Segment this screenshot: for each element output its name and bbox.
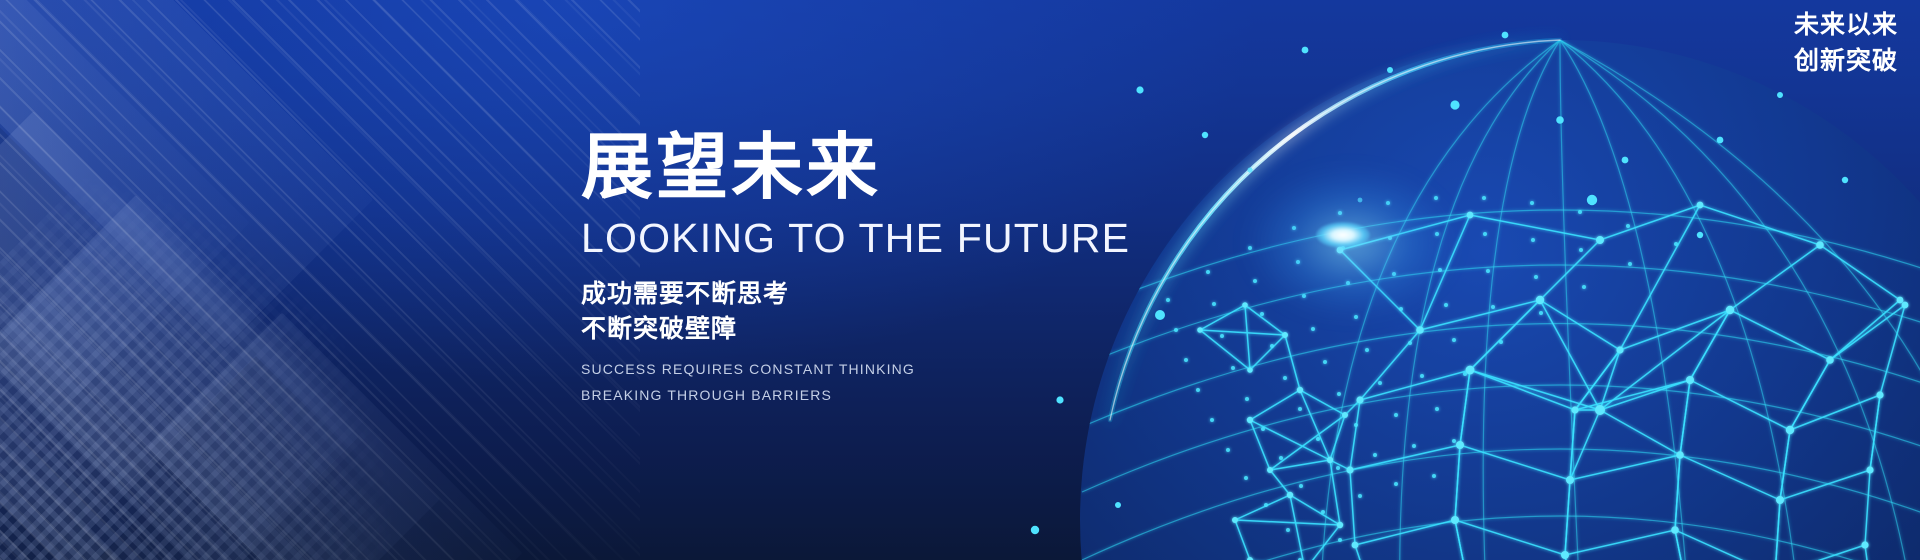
headline-english: LOOKING TO THE FUTURE xyxy=(581,218,1101,259)
globe-flare-core xyxy=(1316,222,1370,248)
headline-chinese: 展望未来 xyxy=(581,132,1101,204)
subtitle-chinese: 成功需要不断思考 不断突破壁障 xyxy=(581,277,1101,346)
globe-longitudes xyxy=(1320,40,1920,560)
globe-mesh xyxy=(1000,0,1920,560)
globe-sphere xyxy=(1080,40,1920,560)
corner-tagline-line1: 未来以来 xyxy=(1794,8,1898,44)
corner-tagline: 未来以来 创新突破 xyxy=(1794,8,1898,79)
globe-dotted-arcs xyxy=(1000,0,1678,560)
globe-network-edges xyxy=(1200,205,1905,560)
decor-wedge xyxy=(0,284,161,560)
network-globe-graphic xyxy=(1000,0,1920,560)
decor-panel xyxy=(148,313,523,560)
globe-latitudes xyxy=(1082,210,1920,560)
subtitle-english-line2: BREAKING THROUGH BARRIERS xyxy=(581,383,1101,409)
decor-panel xyxy=(0,0,250,400)
subtitle-english: SUCCESS REQUIRES CONSTANT THINKING BREAK… xyxy=(581,357,1101,409)
subtitle-english-line1: SUCCESS REQUIRES CONSTANT THINKING xyxy=(581,357,1101,383)
decor-dot-grid xyxy=(0,102,598,560)
globe-nodes xyxy=(1197,202,1908,560)
floating-particles xyxy=(1031,32,1848,535)
decor-panel xyxy=(0,111,359,560)
decor-diagonal-hairlines xyxy=(0,0,640,560)
decor-panel xyxy=(0,195,440,560)
globe-rim-light xyxy=(1110,40,1560,420)
corner-tagline-line2: 创新突破 xyxy=(1794,44,1898,80)
banner-root: 未来以来 创新突破 展望未来 LOOKING TO THE FUTURE 成功需… xyxy=(0,0,1920,560)
decor-diagonal-hairlines-secondary xyxy=(0,0,640,560)
globe-svg xyxy=(1000,0,1920,560)
globe-flare-halo xyxy=(1246,168,1456,318)
subtitle-chinese-line2: 不断突破壁障 xyxy=(581,312,1101,347)
decor-wedge xyxy=(0,0,103,393)
decor-panel xyxy=(0,224,156,560)
subtitle-chinese-line1: 成功需要不断思考 xyxy=(581,277,1101,312)
decor-wedge xyxy=(86,356,454,560)
decor-panel xyxy=(0,0,373,348)
headline-text-block: 展望未来 LOOKING TO THE FUTURE 成功需要不断思考 不断突破… xyxy=(581,132,1101,409)
left-geometric-decor xyxy=(0,0,640,560)
